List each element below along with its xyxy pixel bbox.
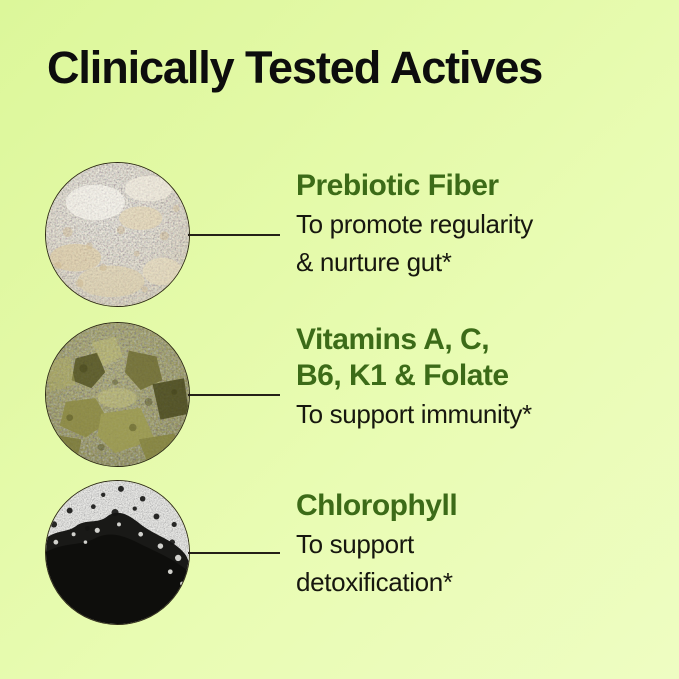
- feature-desc-line-1: To support: [296, 524, 656, 562]
- feature-text-block: Prebiotic Fiber To promote regularity & …: [296, 168, 656, 280]
- chlorophyll-swatch-image: [45, 480, 190, 625]
- page-title: Clinically Tested Actives: [47, 40, 647, 96]
- feature-title: Vitamins A, C,: [296, 322, 656, 358]
- connector-line: [188, 234, 280, 236]
- feature-title: Prebiotic Fiber: [296, 168, 656, 204]
- vitamin-greens-swatch-image: [45, 322, 190, 467]
- feature-title-strong: Prebiotic: [296, 169, 420, 202]
- feature-desc-line-1: To support immunity*: [296, 394, 656, 432]
- prebiotic-fiber-swatch-image: [45, 162, 190, 307]
- feature-title-light: Fiber: [420, 169, 499, 202]
- infographic-panel: Clinically Tested Actives: [0, 0, 679, 679]
- feature-desc-line-2: & nurture gut*: [296, 242, 656, 280]
- connector-line: [188, 552, 280, 554]
- feature-title-line-2: B6, K1 & Folate: [296, 358, 656, 394]
- feature-text-block: Vitamins A, C, B6, K1 & Folate To suppor…: [296, 322, 656, 432]
- connector-line: [188, 394, 280, 396]
- feature-desc-line-1: To promote regularity: [296, 204, 656, 242]
- feature-title: Chlorophyll: [296, 488, 656, 524]
- feature-desc-line-2: detoxification*: [296, 562, 656, 600]
- feature-text-block: Chlorophyll To support detoxification*: [296, 488, 656, 600]
